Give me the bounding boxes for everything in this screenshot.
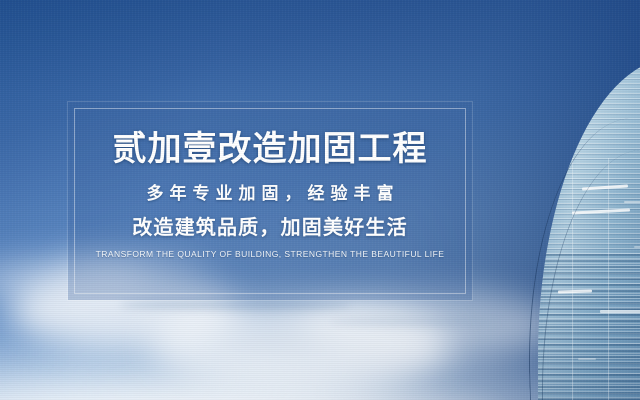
skyscraper-icon xyxy=(520,0,640,400)
banner-english-line: TRANSFORM THE QUALITY OF BUILDING, STREN… xyxy=(96,249,445,259)
banner-headline: 贰加壹改造加固工程 xyxy=(113,130,428,168)
banner-tagline: 改造建筑品质，加固美好生活 xyxy=(132,216,408,240)
banner-text-block: 贰加壹改造加固工程 多年专业加固，经验丰富 改造建筑品质，加固美好生活 TRAN… xyxy=(68,102,472,300)
cloud-wisp-icon xyxy=(330,318,500,326)
hero-banner: 贰加壹改造加固工程 多年专业加固，经验丰富 改造建筑品质，加固美好生活 TRAN… xyxy=(0,0,640,400)
cloud-icon xyxy=(150,297,450,392)
cloud-wisp-icon xyxy=(120,300,350,310)
banner-subline: 多年专业加固，经验丰富 xyxy=(141,184,400,204)
